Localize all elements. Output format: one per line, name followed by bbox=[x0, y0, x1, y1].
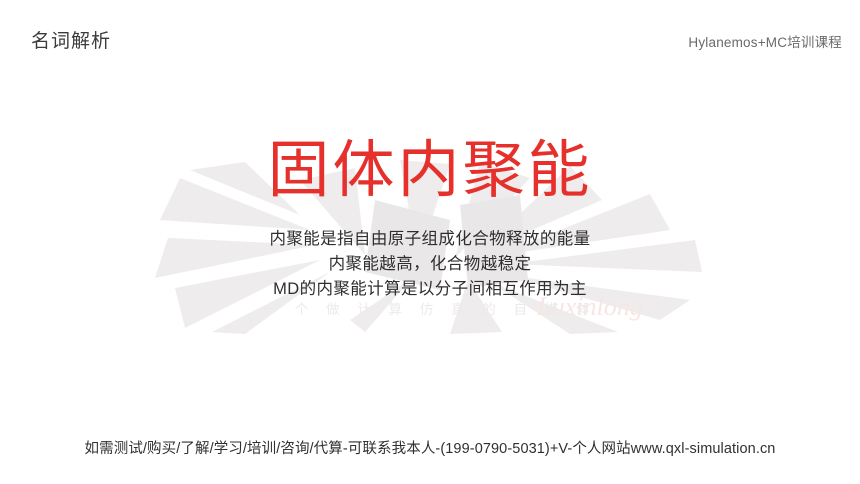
watermark-layer: 一 个 做 计 算 仿 真 的 自 媒 体 Luxinlong bbox=[0, 0, 860, 484]
slide-footer: 如需测试/购买/了解/学习/培训/咨询/代算-可联系我本人-(199-0790-… bbox=[0, 437, 860, 458]
description-line-2: 内聚能越高，化合物越稳定 bbox=[0, 252, 860, 277]
description-block: 内聚能是指自由原子组成化合物释放的能量 内聚能越高，化合物越稳定 MD的内聚能计… bbox=[0, 227, 860, 302]
footer-contact-text: 如需测试/购买/了解/学习/培训/咨询/代算-可联系我本人-(199-0790-… bbox=[85, 437, 776, 458]
course-label: Hylanemos+MC培训课程 bbox=[688, 31, 842, 51]
star-burst-logo-icon bbox=[150, 160, 710, 335]
presentation-slide: 一 个 做 计 算 仿 真 的 自 媒 体 Luxinlong 名词解析 Hyl… bbox=[0, 0, 860, 484]
slide-main-content: 固体内聚能 内聚能是指自由原子组成化合物释放的能量 内聚能越高，化合物越稳定 M… bbox=[0, 0, 860, 484]
slide-header: 名词解析 Hylanemos+MC培训课程 bbox=[0, 0, 860, 62]
page-title: 名词解析 bbox=[31, 26, 111, 53]
watermark-tagline: 一 个 做 计 算 仿 真 的 自 媒 体 bbox=[0, 298, 860, 318]
description-line-3: MD的内聚能计算是以分子间相互作用为主 bbox=[0, 277, 860, 302]
main-heading: 固体内聚能 bbox=[0, 139, 860, 204]
description-line-1: 内聚能是指自由原子组成化合物释放的能量 bbox=[0, 227, 860, 252]
watermark-script-text: Luxinlong bbox=[0, 292, 860, 322]
